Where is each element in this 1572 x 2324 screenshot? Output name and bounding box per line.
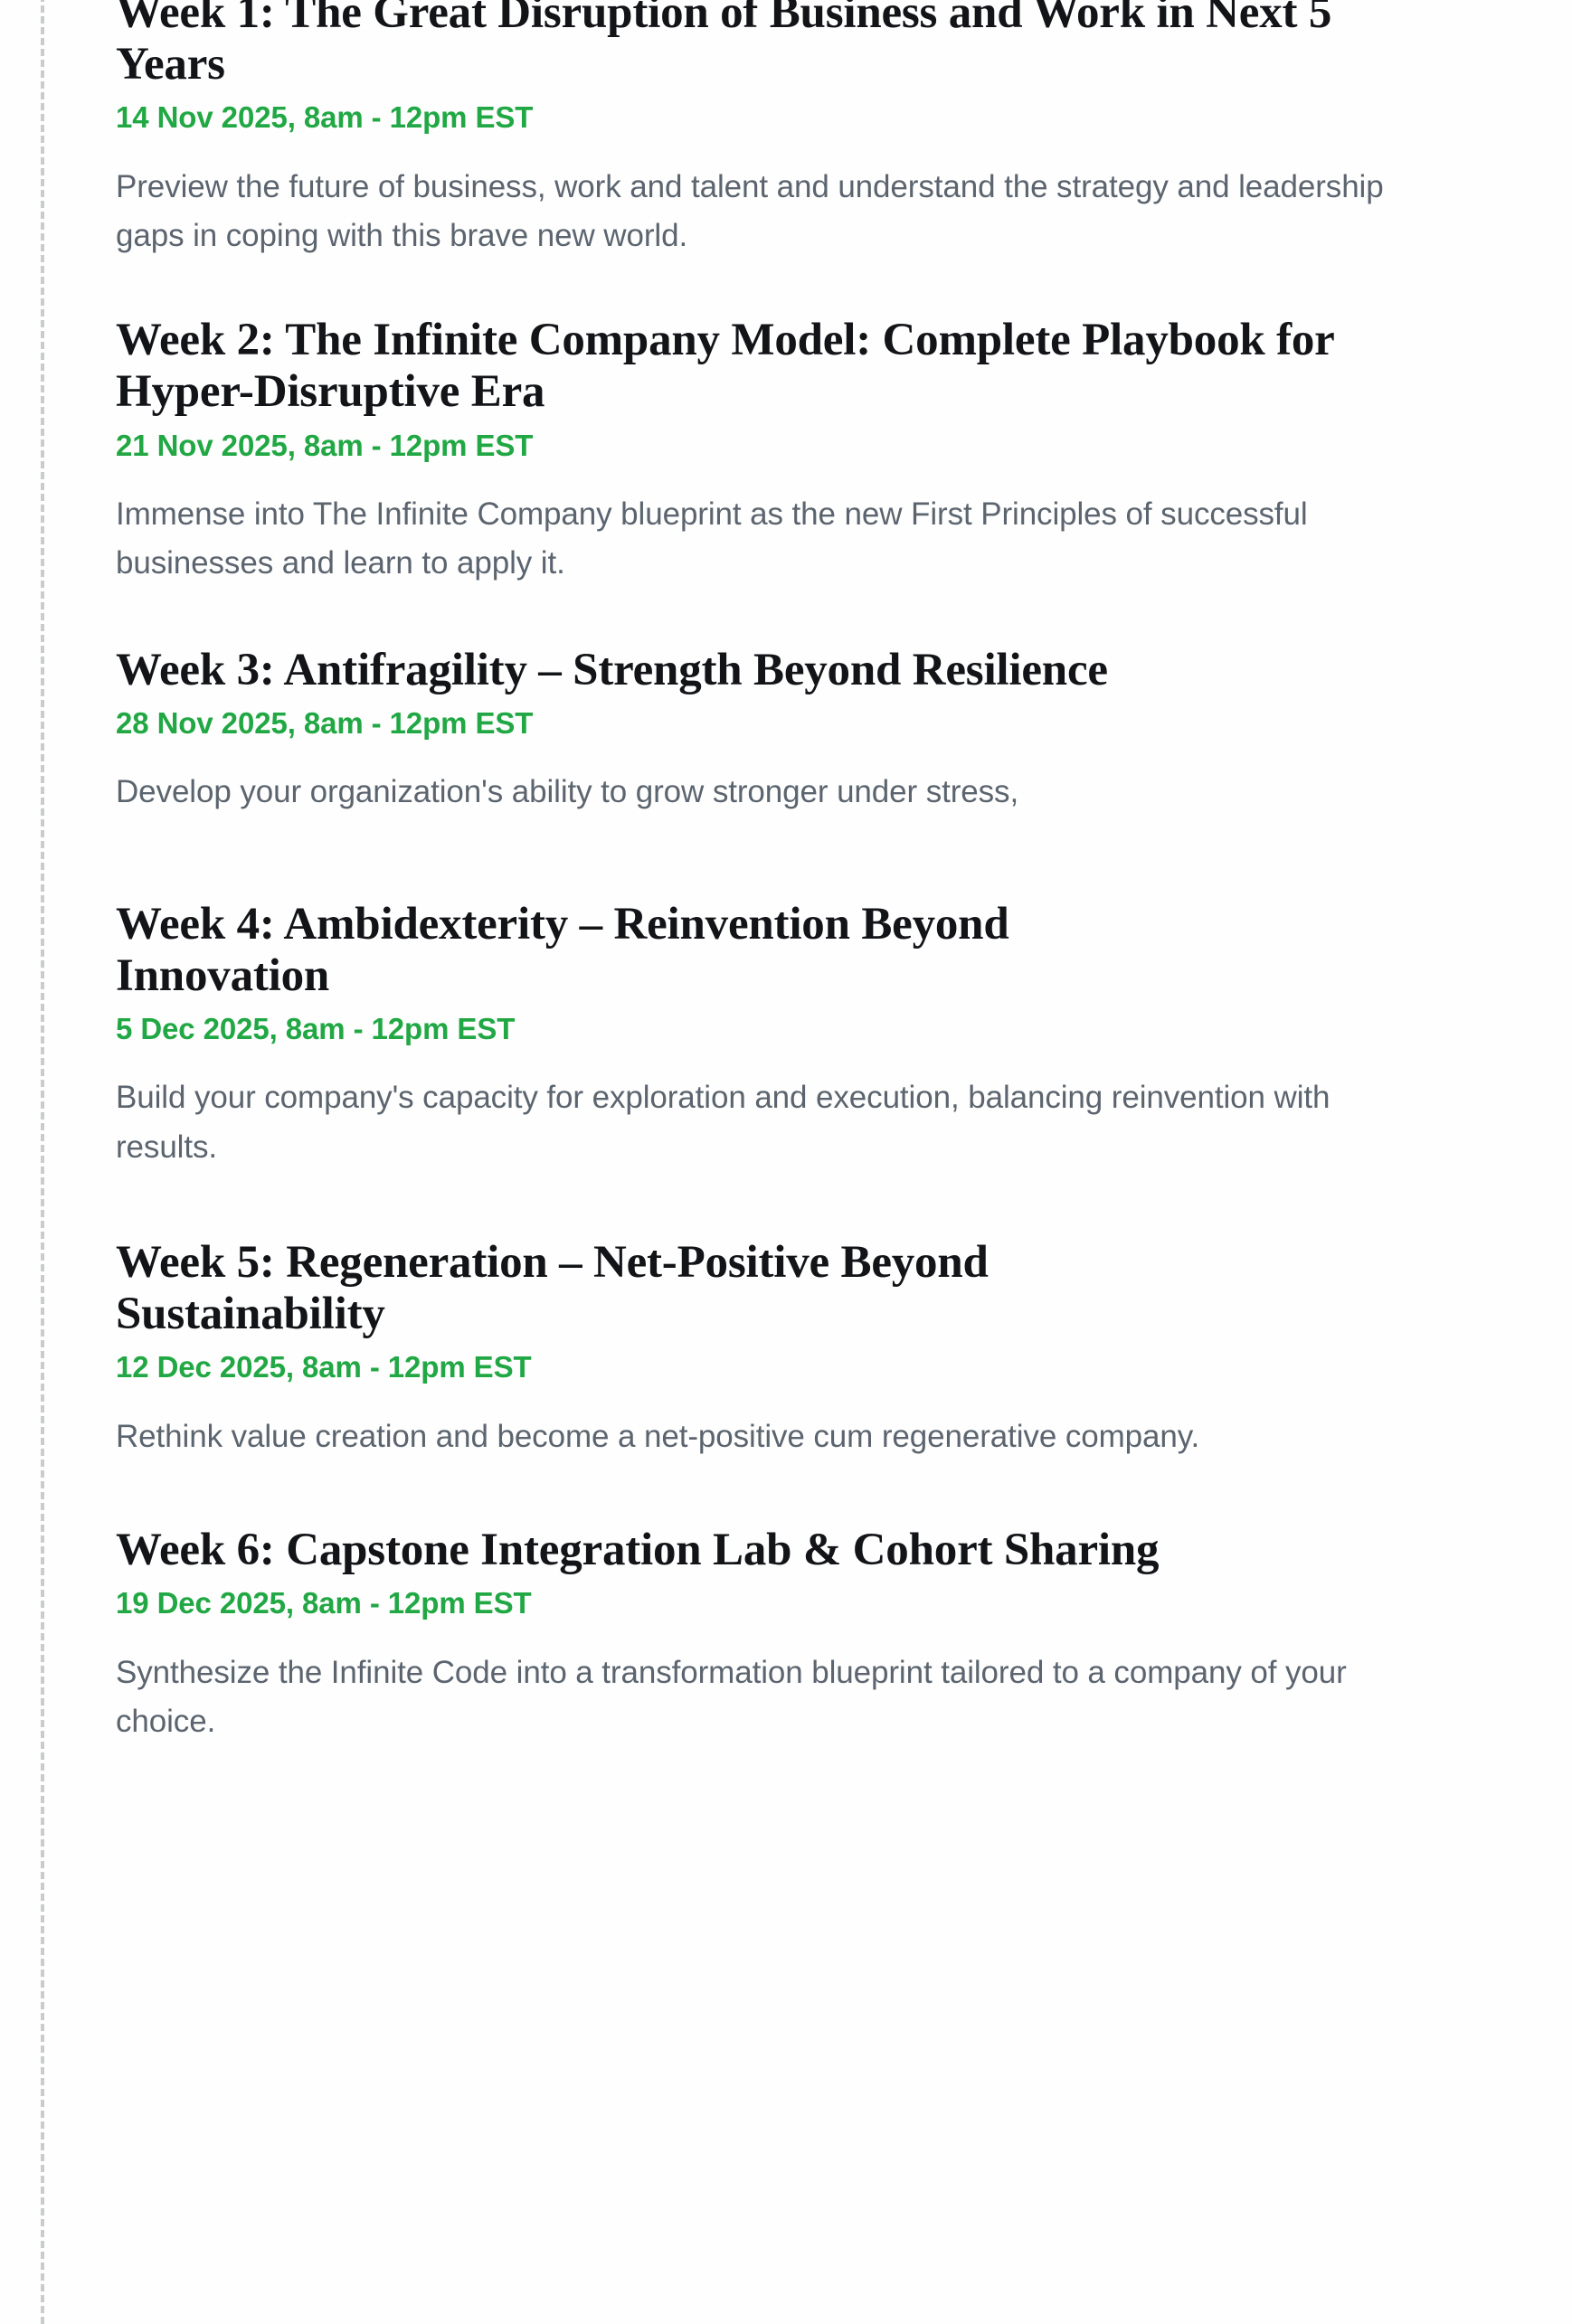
week-section-6: Week 6: Capstone Integration Lab & Cohor… [116,1525,1509,1746]
timeline-rail [41,0,44,2324]
curriculum-list: Week 1: The Great Disruption of Business… [116,0,1509,1746]
week-section-4: Week 4: Ambidexterity – Reinvention Beyo… [116,899,1509,1172]
week-description: Immense into The Infinite Company bluepr… [116,490,1473,589]
week-description: Preview the future of business, work and… [116,163,1400,261]
week-title: Week 4: Ambidexterity – Reinvention Beyo… [116,899,1129,1002]
week-section-1: Week 1: The Great Disruption of Business… [116,0,1509,260]
week-description: Develop your organization's ability to g… [116,768,1473,817]
week-date: 5 Dec 2025, 8am - 12pm EST [116,1011,1509,1047]
week-section-5: Week 5: Regeneration – Net-Positive Beyo… [116,1237,1509,1461]
week-title: Week 6: Capstone Integration Lab & Cohor… [116,1525,1509,1576]
week-section-2: Week 2: The Infinite Company Model: Comp… [116,315,1509,588]
week-title: Week 1: The Great Disruption of Business… [116,0,1382,90]
week-date: 14 Nov 2025, 8am - 12pm EST [116,99,1509,136]
week-description: Synthesize the Infinite Code into a tran… [116,1649,1436,1747]
week-description: Build your company's capacity for explor… [116,1073,1436,1172]
week-description: Rethink value creation and become a net-… [116,1412,1400,1461]
week-title: Week 3: Antifragility – Strength Beyond … [116,645,1509,696]
week-date: 21 Nov 2025, 8am - 12pm EST [116,428,1509,464]
week-title: Week 5: Regeneration – Net-Positive Beyo… [116,1237,1093,1340]
week-date: 19 Dec 2025, 8am - 12pm EST [116,1585,1509,1621]
week-section-3: Week 3: Antifragility – Strength Beyond … [116,645,1509,817]
week-title: Week 2: The Infinite Company Model: Comp… [116,315,1400,418]
week-date: 12 Dec 2025, 8am - 12pm EST [116,1349,1509,1385]
week-date: 28 Nov 2025, 8am - 12pm EST [116,705,1509,742]
